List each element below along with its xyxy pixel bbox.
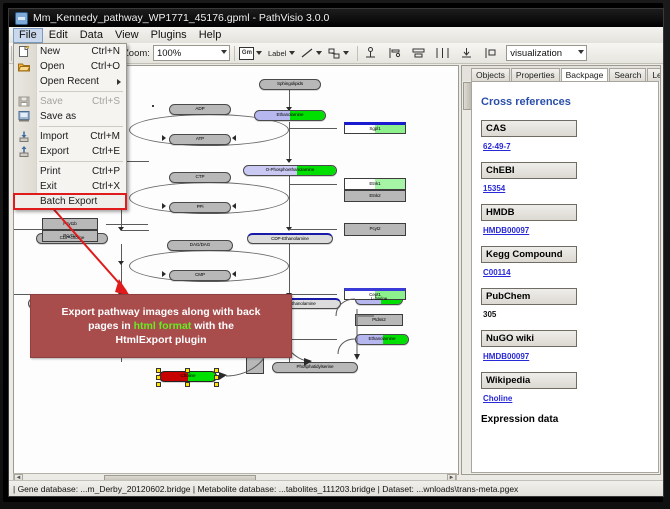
file-menu-import-accel: Ctrl+M [90,131,120,142]
node-label: Ethanolamine [369,337,396,342]
file-menu-import[interactable]: Import Ctrl+M [14,129,126,144]
backpage-panel: Objects Properties Backpage Search Legen… [461,65,661,475]
node-label: Pcyt1a [63,234,76,239]
cross-references-title: Cross references [481,96,658,108]
metabolite-node[interactable]: Ethanolamine [254,110,326,121]
file-menu-exit-accel: Ctrl+X [92,181,120,192]
metabolite-node-selected[interactable]: Choline [159,371,217,382]
callout-banner: Export pathway images along with back pa… [30,294,292,358]
xref-db-chebi: ChEBI [481,162,577,179]
edge [121,244,122,296]
metabolite-node[interactable]: Sphingolipids [259,79,321,90]
file-menu-batch-export[interactable]: Batch Export [14,194,126,209]
xref-db-kegg: Kegg Compound [481,246,577,263]
edge [289,229,337,230]
xref-value-kegg[interactable]: C00114 [483,268,658,277]
file-menu-batch-export-label: Batch Export [40,196,97,207]
node-label: ADP [195,107,204,112]
line-dropdown-icon[interactable] [316,51,322,55]
menu-edit[interactable]: Edit [43,28,74,43]
xref-value-pubchem: 305 [483,310,658,319]
node-label: Etnk2 [369,194,380,199]
metabolite-node[interactable]: CTP [169,172,231,183]
node-label: Pcyt1b [63,222,76,227]
file-menu-save-as[interactable]: Save as [14,109,126,124]
xref-value-cas[interactable]: 62-49-7 [483,142,658,151]
file-menu-separator-3 [39,161,123,162]
xref-db-pubchem: PubChem [481,288,577,305]
tab-properties[interactable]: Properties [511,68,560,81]
file-menu-export-accel: Ctrl+E [92,146,120,157]
export-icon [18,146,30,157]
menu-data[interactable]: Data [74,28,109,43]
file-menu-open-label: Open [40,61,64,72]
arrow-icon [232,135,236,141]
distribute-icon[interactable] [434,45,450,61]
pathvisio-window: Mm_Kennedy_pathway_WP1771_45176.gpml - P… [8,8,664,497]
datanode-dropdown-icon[interactable] [256,51,262,55]
file-menu-popup: New Ctrl+N Open Ctrl+O Open Recent Save … [13,43,127,210]
file-menu-new[interactable]: New Ctrl+N [14,44,126,59]
node-label: L-Serine [371,297,388,302]
title-bar: Mm_Kennedy_pathway_WP1771_45176.gpml - P… [9,9,663,27]
file-menu-save-as-label: Save as [40,111,76,122]
line-icon[interactable] [299,45,315,61]
xref-value-wikipedia[interactable]: Choline [483,394,658,403]
metabolite-node[interactable]: Ethanolamine [355,334,409,345]
file-menu-open-recent[interactable]: Open Recent [14,74,126,89]
save-disk-icon [18,96,30,107]
new-file-icon [18,46,30,57]
file-menu-print-label: Print [40,166,61,177]
arrow-icon [286,159,292,163]
label-dropdown-icon[interactable] [289,51,295,55]
file-menu-separator-2 [39,126,123,127]
node-label: ATP [196,137,204,142]
zoom-value: 100% [157,48,181,59]
menu-bar: File Edit Data View Plugins Help [9,27,664,44]
node-label: PPi [197,205,204,210]
edge [121,230,149,231]
datanode-icon[interactable]: Gm [239,45,255,61]
open-folder-icon [18,61,30,72]
edge [289,184,337,185]
node-label: CMP [195,273,205,278]
gene-node[interactable]: Pcyt1b [42,218,98,230]
label-icon[interactable]: Label [266,49,288,58]
file-menu-open-accel: Ctrl+O [91,61,120,72]
tab-backpage[interactable]: Backpage [561,68,609,82]
arrow-icon [162,135,166,141]
file-menu-new-label: New [40,46,60,57]
metabolite-node[interactable]: ADP [169,104,231,115]
toolbar-separator-2 [357,46,358,61]
status-bar: | Gene database: ...m_Derby_20120602.bri… [9,480,664,496]
metabolite-node[interactable]: ATP [169,134,231,145]
xref-value-hmdb[interactable]: HMDB00097 [483,226,658,235]
xref-db-nugo: NuGO wiki [481,330,577,347]
anchor-icon[interactable] [362,45,378,61]
gene-node[interactable]: Etnk1 [344,178,406,190]
file-menu-import-label: Import [40,131,68,142]
node-label: Phosphatidylserine [296,365,333,370]
file-menu-open-recent-label: Open Recent [40,76,99,87]
edge [289,294,337,295]
zoom-label: Zoom: [123,48,150,59]
edge [289,128,337,129]
menu-view[interactable]: View [109,28,145,43]
arrow-icon [162,271,166,277]
align-center-icon[interactable] [410,45,426,61]
arrow-icon [162,203,166,209]
metabolite-node[interactable]: PPi [169,202,231,213]
xref-db-cas: CAS [481,120,577,137]
file-menu-export-label: Export [40,146,69,157]
file-menu-new-accel: Ctrl+N [91,46,120,57]
arrow-icon [118,261,124,265]
edge [289,244,290,296]
gene-node[interactable]: Pcyt2 [344,223,406,236]
file-menu-save-label: Save [40,96,63,107]
chevron-down-icon [221,50,227,54]
file-menu-print[interactable]: Print Ctrl+P [14,164,126,179]
status-text: | Gene database: ...m_Derby_20120602.bri… [13,484,518,494]
node-label: Cept1 [369,293,381,298]
file-menu-separator [39,91,123,92]
shape-dropdown-icon[interactable] [343,51,349,55]
visualization-combo[interactable]: visualization [506,45,587,61]
app-icon [15,12,28,25]
xref-db-wikipedia: Wikipedia [481,372,577,389]
group-icon[interactable] [482,45,498,61]
toolbar-separator [234,46,235,61]
node-label: Sgpl1 [369,127,380,132]
align-left-icon[interactable] [386,45,402,61]
zoom-combo[interactable]: 100% [153,45,230,61]
file-menu-save: Save Ctrl+S [14,94,126,109]
node-label: Pcyt2 [370,227,381,232]
gene-node[interactable]: Ptdss2 [355,314,403,326]
metabolite-node[interactable]: O-Phosphoethanolamine [243,165,337,176]
xref-db-hmdb: HMDB [481,204,577,221]
stack-icon[interactable] [458,45,474,61]
edge [106,224,148,225]
menu-help[interactable]: Help [193,28,228,43]
xref-value-chebi[interactable]: 15354 [483,184,658,193]
callout-line-1: Export pathway images along with back [62,305,261,319]
node-label: Ethanolamine [277,113,304,118]
window-title: Mm_Kennedy_pathway_WP1771_45176.gpml - P… [33,12,329,24]
metabolite-node[interactable]: CDP-Ethanolamine [247,233,333,244]
edge [289,339,337,340]
visualization-value: visualization [510,48,562,59]
tab-legend[interactable]: Legend [647,68,661,81]
node-label: Choline [181,374,196,379]
node-label: DAG/DAG [190,243,211,248]
file-menu-save-accel: Ctrl+S [92,96,120,107]
save-as-icon [18,111,30,122]
gene-node[interactable]: Etnk2 [344,190,406,202]
menu-file[interactable]: File [13,28,43,43]
node-label: Ptdss2 [372,318,385,323]
callout-line-2: pages in html format with the [88,319,234,333]
xref-value-nugo[interactable]: HMDB00097 [483,352,658,361]
shape-icon[interactable] [326,45,342,61]
file-menu-print-accel: Ctrl+P [92,166,120,177]
file-menu-exit[interactable]: Exit Ctrl+X [14,179,126,194]
chevron-down-icon-2 [578,50,584,54]
backpage-content: Cross references CAS 62-49-7 ChEBI 15354… [471,81,659,473]
node-label: CDP-Ethanolamine [271,237,309,242]
metabolite-node[interactable]: DAG/DAG [167,240,233,251]
screen: Mm_Kennedy_pathway_WP1771_45176.gpml - P… [0,0,670,509]
callout-line-2b: with the [191,320,234,332]
metabolite-node[interactable]: Phosphatidylserine [272,362,358,373]
gene-node[interactable]: Sgpl1 [344,122,406,134]
arrow-icon [232,271,236,277]
file-menu-open[interactable]: Open Ctrl+O [14,59,126,74]
arrow-icon [232,203,236,209]
panel-tabs: Objects Properties Backpage Search Legen… [462,66,661,81]
node-label: O-Phosphoethanolamine [266,168,315,173]
edge [14,229,44,230]
tab-search[interactable]: Search [609,68,646,81]
node-label: Sphingolipids [277,82,303,87]
file-menu-exit-label: Exit [40,181,57,192]
callout-line-2a: pages in [88,320,134,332]
node-label: Etnk1 [369,182,380,187]
file-menu-export[interactable]: Export Ctrl+E [14,144,126,159]
node-label: CTP [196,175,205,180]
submenu-arrow-icon [117,79,121,85]
import-icon [18,131,30,142]
metabolite-node[interactable]: CMP [169,270,231,281]
callout-highlight: html format [134,320,192,332]
tab-objects[interactable]: Objects [471,68,510,81]
callout-line-3: HtmlExport plugin [116,333,207,347]
expression-data-heading: Expression data [481,414,658,425]
menu-plugins[interactable]: Plugins [145,28,193,43]
